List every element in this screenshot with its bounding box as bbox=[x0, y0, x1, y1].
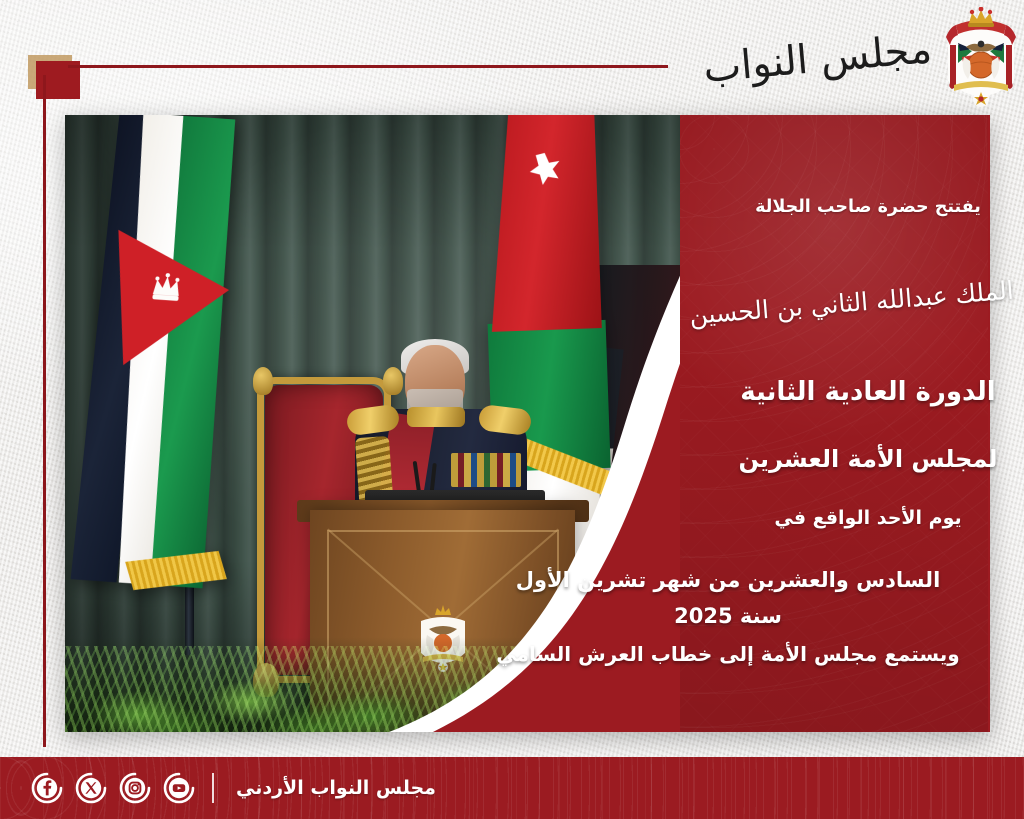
youtube-icon[interactable] bbox=[162, 771, 196, 805]
flag-crown-emblem bbox=[148, 272, 185, 304]
corner-rule-horizontal bbox=[68, 65, 668, 68]
line-council-title: لمجلس الأمة العشرين bbox=[726, 445, 1010, 473]
footer-bar: مجلس النواب الأردني bbox=[0, 757, 1024, 819]
line-throne-speech: ويستمع مجلس الأمة إلى خطاب العرش السامي bbox=[468, 636, 988, 672]
line-day: يوم الأحد الواقع في bbox=[726, 507, 1010, 529]
line-king-name: الملك عبدالله الثاني بن الحسين bbox=[721, 276, 1014, 328]
poster-root: مجلس النواب bbox=[0, 0, 1024, 819]
line-date: السادس والعشرين من شهر تشرين الأول bbox=[468, 565, 988, 597]
seven-pointed-star-icon bbox=[528, 151, 563, 186]
figure-medal-ribbons bbox=[451, 453, 521, 487]
figure-gold-collar bbox=[407, 407, 465, 427]
throne-finial-left bbox=[253, 367, 273, 395]
jordan-coat-of-arms-icon bbox=[938, 7, 1024, 111]
instagram-icon[interactable] bbox=[118, 771, 152, 805]
corner-rule-vertical bbox=[43, 75, 46, 747]
footer-divider bbox=[212, 773, 214, 803]
line-year: سنة 2025 bbox=[468, 597, 988, 637]
line-his-majesty: يفتتح حضرة صاحب الجلالة bbox=[730, 197, 1006, 217]
footer-brand-label: مجلس النواب الأردني bbox=[236, 777, 436, 799]
x-twitter-icon[interactable] bbox=[74, 771, 108, 805]
facebook-icon[interactable] bbox=[30, 771, 64, 805]
header: مجلس النواب bbox=[604, 0, 1024, 118]
line-session-title: الدورة العادية الثانية bbox=[726, 377, 1010, 407]
panel-lower-text-container: السادس والعشرين من شهر تشرين الأول سنة 2… bbox=[440, 565, 988, 672]
brand-title: مجلس النواب bbox=[702, 29, 934, 89]
footer-content: مجلس النواب الأردني bbox=[0, 757, 1024, 819]
